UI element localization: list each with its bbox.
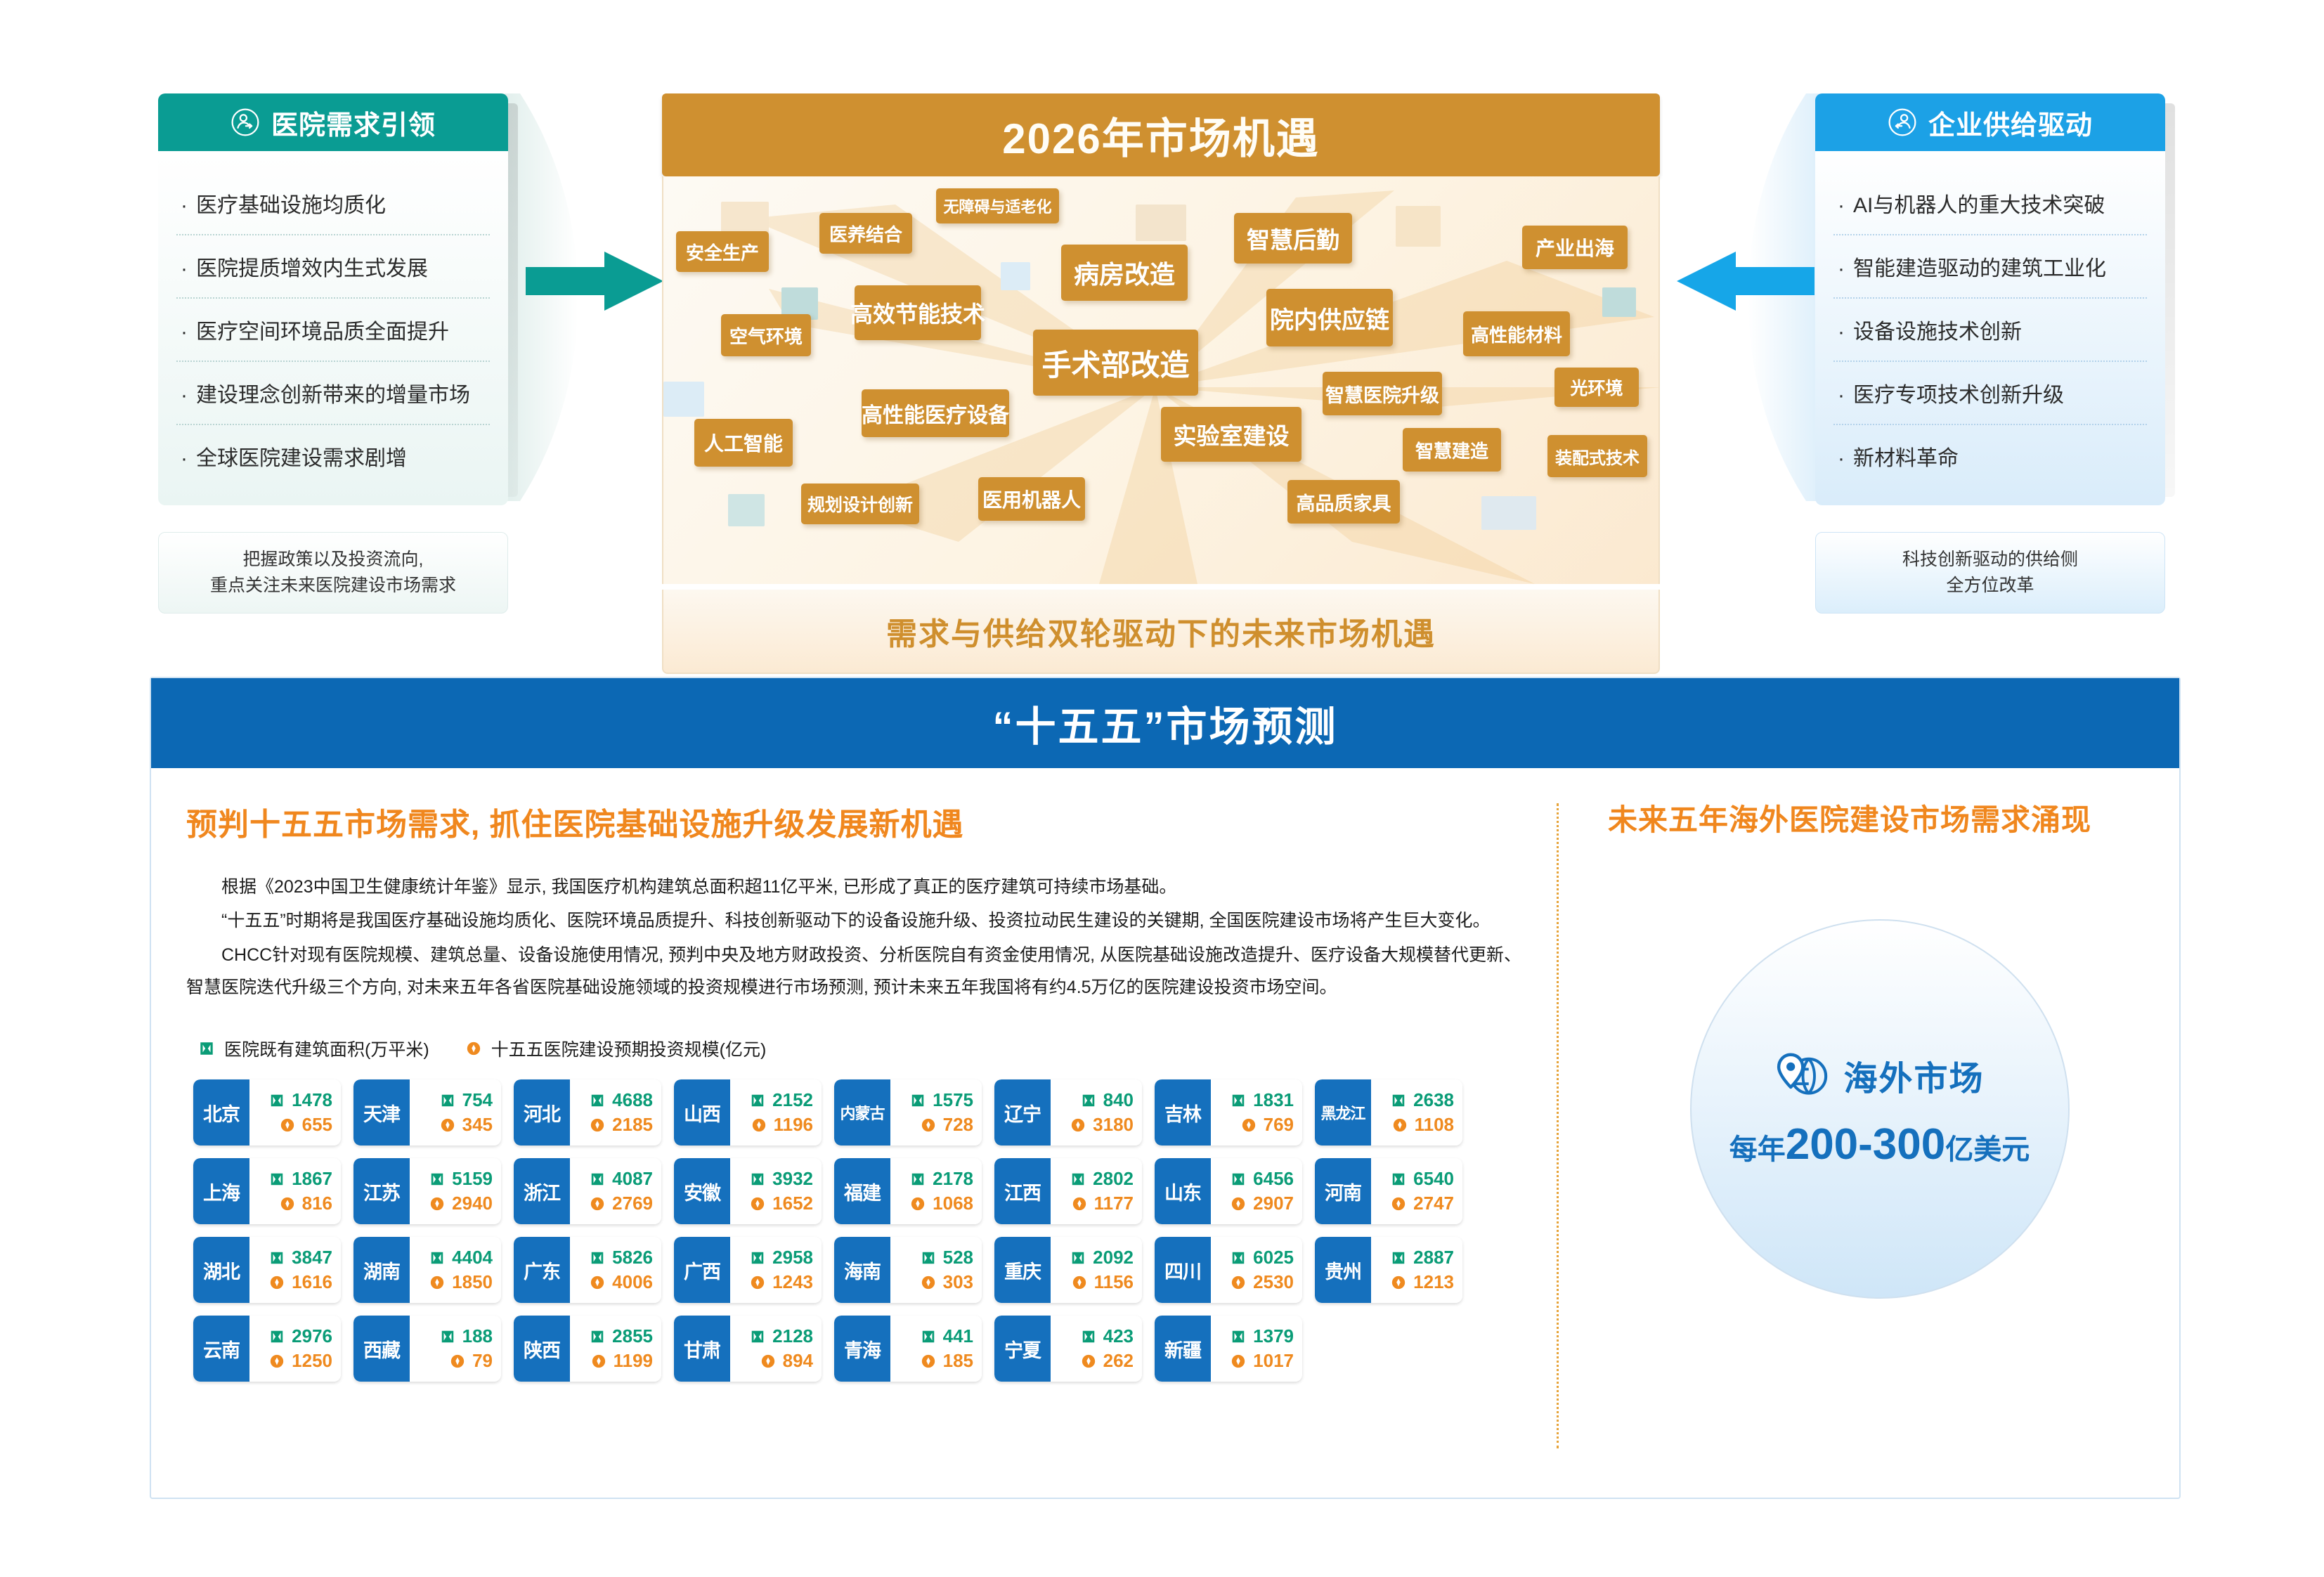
keyword-tag-label: 智慧后勤	[1247, 221, 1339, 255]
province-area-value: 2887	[1413, 1247, 1454, 1268]
province-investment-row: 1850	[414, 1271, 493, 1293]
province-investment-row: 4006	[574, 1271, 653, 1293]
investment-pin-icon	[450, 1354, 465, 1369]
province-area-value: 1575	[933, 1089, 973, 1111]
province-name: 广东	[514, 1237, 570, 1303]
province-card[interactable]: 湖北38471616	[193, 1237, 341, 1303]
province-card[interactable]: 四川60252530	[1155, 1237, 1302, 1303]
province-card[interactable]: 西藏18879	[353, 1316, 501, 1382]
area-marker-icon	[269, 1172, 285, 1187]
province-name: 湖南	[353, 1237, 410, 1303]
province-values: 64562907	[1211, 1158, 1302, 1224]
investment-pin-icon	[590, 1196, 605, 1212]
province-area-value: 6540	[1413, 1168, 1454, 1190]
keyword-tag[interactable]: 医用机器人	[978, 477, 1085, 521]
amount-prefix: 每年	[1729, 1134, 1786, 1165]
keyword-tag[interactable]: 高性能医疗设备	[862, 389, 1009, 437]
enterprise-supply-panel: 企业供给驱动 ·AI与机器人的重大技术突破 ·智能建造驱动的建筑工业化 ·设备设…	[1815, 93, 2165, 505]
list-item-label: 智能建造驱动的建筑工业化	[1853, 257, 2106, 280]
province-card[interactable]: 重庆20921156	[994, 1237, 1142, 1303]
province-investment-value: 345	[462, 1114, 493, 1136]
investment-pin-icon	[591, 1354, 606, 1369]
province-values: 1867816	[249, 1158, 341, 1224]
list-item: ·AI与机器人的重大技术突破	[1833, 172, 2147, 234]
amount-suffix: 亿美元	[1945, 1134, 2030, 1165]
investment-pin-icon	[1391, 1196, 1406, 1212]
province-card[interactable]: 广东58264006	[514, 1237, 661, 1303]
province-area-row: 4087	[574, 1168, 653, 1190]
chart-legend: 医院既有建筑面积(万平米) 十五五医院建设预期投资规模(亿元)	[199, 1036, 1521, 1061]
province-card[interactable]: 天津754345	[353, 1079, 501, 1146]
keyword-tag[interactable]: 院内供应链	[1266, 289, 1393, 346]
province-card-grid: 北京1478655天津754345河北46882185山西21521196内蒙古…	[193, 1079, 1521, 1382]
hospital-demand-footnote: 把握政策以及投资流向, 重点关注未来医院建设市场需求	[158, 532, 508, 614]
bullet-dot-icon: ·	[181, 384, 196, 408]
province-investment-row: 2747	[1375, 1193, 1454, 1214]
province-investment-row: 3180	[1055, 1114, 1134, 1136]
province-values: 21781068	[890, 1158, 982, 1224]
province-card[interactable]: 辽宁8403180	[994, 1079, 1142, 1146]
province-values: 2128894	[730, 1316, 822, 1382]
province-area-value: 754	[462, 1089, 493, 1111]
list-item-label: AI与机器人的重大技术突破	[1853, 194, 2105, 217]
province-name: 云南	[193, 1316, 249, 1382]
list-item: ·医疗专项技术创新升级	[1833, 361, 2147, 424]
province-investment-value: 1177	[1094, 1193, 1134, 1214]
province-investment-value: 303	[943, 1271, 973, 1293]
keyword-tag[interactable]: 高效节能技术	[855, 285, 981, 340]
keyword-tag[interactable]: 智慧医院升级	[1323, 372, 1442, 415]
province-name: 安徽	[674, 1158, 730, 1224]
overseas-section-title: 未来五年海外医院建设市场需求涌现	[1608, 799, 2151, 842]
keyword-tag[interactable]: 规划设计创新	[801, 484, 919, 524]
paragraph: CHCC针对现有医院规模、建筑总量、设备设施使用情况, 预判中央及地方财政投资、…	[186, 939, 1521, 1004]
globe-pin-icon	[1774, 1048, 1829, 1103]
province-investment-row: 185	[895, 1350, 973, 1372]
area-marker-icon	[440, 1093, 455, 1108]
province-name: 陕西	[514, 1316, 570, 1382]
province-investment-value: 1850	[452, 1271, 493, 1293]
province-name: 江苏	[353, 1158, 410, 1224]
province-area-value: 3932	[772, 1168, 813, 1190]
province-investment-value: 1213	[1413, 1271, 1454, 1293]
province-area-value: 2152	[772, 1089, 813, 1111]
province-area-value: 2958	[772, 1247, 813, 1268]
investment-pin-icon	[1072, 1275, 1087, 1290]
list-item: ·医疗基础设施均质化	[176, 172, 490, 234]
province-area-row: 3847	[254, 1247, 332, 1268]
province-investment-row: 1616	[254, 1271, 332, 1293]
overseas-forecast-column: 未来五年海外医院建设市场需求涌现 海外市场	[1559, 768, 2179, 1498]
province-name: 西藏	[353, 1316, 410, 1382]
keyword-tag[interactable]: 高性能材料	[1463, 311, 1570, 356]
province-values: 1478655	[249, 1079, 341, 1146]
province-name: 河南	[1315, 1158, 1371, 1224]
province-name: 新疆	[1155, 1316, 1211, 1382]
area-marker-icon	[429, 1250, 445, 1266]
province-card[interactable]: 上海1867816	[193, 1158, 341, 1224]
province-area-value: 423	[1103, 1325, 1134, 1347]
province-area-row: 423	[1055, 1325, 1134, 1347]
keyword-tag-label: 产业出海	[1536, 233, 1614, 261]
keyword-tag[interactable]: 病房改造	[1061, 245, 1188, 301]
province-area-row: 2128	[734, 1325, 813, 1347]
enterprise-supply-footnote: 科技创新驱动的供给侧 全方位改革	[1815, 532, 2165, 614]
market-forecast-section: “十五五”市场预测 预判十五五市场需求, 抓住医院基础设施升级发展新机遇 根据《…	[150, 677, 2181, 1499]
keyword-cloud: 安全生产医养结合无障碍与适老化空气环境高效节能技术病房改造智慧后勤产业出海院内供…	[662, 176, 1660, 584]
province-values: 20921156	[1051, 1237, 1142, 1303]
investment-pin-icon	[1072, 1196, 1087, 1212]
decorative-block	[728, 494, 765, 526]
province-card[interactable]: 青海441185	[834, 1316, 982, 1382]
province-area-row: 5159	[414, 1168, 493, 1190]
investment-pin-icon	[1070, 1117, 1086, 1133]
province-card[interactable]: 江西28021177	[994, 1158, 1142, 1224]
province-area-value: 528	[943, 1247, 973, 1268]
hospital-demand-panel-header: 医院需求引领	[158, 93, 508, 151]
area-marker-icon	[1231, 1329, 1246, 1344]
bullet-dot-icon: ·	[181, 194, 196, 218]
area-marker-icon	[269, 1250, 285, 1266]
province-investment-value: 1017	[1253, 1350, 1294, 1372]
province-investment-value: 2907	[1253, 1193, 1294, 1214]
footnote-line-1: 把握政策以及投资流向,	[243, 547, 424, 573]
keyword-tag[interactable]: 光环境	[1554, 368, 1639, 407]
province-name: 宁夏	[994, 1316, 1051, 1382]
province-card[interactable]: 江苏51592940	[353, 1158, 501, 1224]
investment-pin-icon	[1081, 1354, 1096, 1369]
keyword-tag-label: 病房改造	[1074, 254, 1175, 291]
footnote-line-2: 全方位改革	[1946, 573, 2034, 599]
province-name: 广西	[674, 1237, 730, 1303]
province-investment-row: 2907	[1215, 1193, 1294, 1214]
investment-pin-icon	[921, 1354, 936, 1369]
area-marker-icon	[269, 1093, 285, 1108]
province-name: 河北	[514, 1079, 570, 1146]
province-area-row: 754	[414, 1089, 493, 1111]
province-investment-row: 1068	[895, 1193, 973, 1214]
province-area-value: 5159	[452, 1168, 493, 1190]
investment-pin-icon	[921, 1275, 936, 1290]
area-marker-icon	[910, 1172, 926, 1187]
investment-pin-icon	[1231, 1354, 1246, 1369]
province-investment-row: 1156	[1055, 1271, 1134, 1293]
province-values: 18879	[410, 1316, 501, 1382]
province-values: 13791017	[1211, 1316, 1302, 1382]
province-investment-value: 769	[1264, 1114, 1294, 1136]
province-card[interactable]: 贵州28871213	[1315, 1237, 1462, 1303]
province-investment-row: 1250	[254, 1350, 332, 1372]
province-values: 423262	[1051, 1316, 1142, 1382]
province-name: 北京	[193, 1079, 249, 1146]
enterprise-supply-panel-header: 企业供给驱动	[1815, 93, 2165, 151]
province-name: 内蒙古	[834, 1079, 890, 1146]
province-investment-row: 1652	[734, 1193, 813, 1214]
province-investment-value: 1199	[614, 1350, 653, 1372]
province-area-value: 2178	[933, 1168, 973, 1190]
province-values: 38471616	[249, 1237, 341, 1303]
province-name: 湖北	[193, 1237, 249, 1303]
province-area-row: 6456	[1215, 1168, 1294, 1190]
area-marker-icon	[1391, 1093, 1406, 1108]
footnote-line-2: 重点关注未来医院建设市场需求	[210, 573, 456, 599]
province-values: 58264006	[570, 1237, 661, 1303]
keyword-tag[interactable]: 人工智能	[694, 419, 793, 467]
investment-pin-icon	[921, 1117, 936, 1133]
keyword-tag[interactable]: 医养结合	[819, 213, 912, 254]
investment-pin-icon	[269, 1354, 285, 1369]
decorative-block	[1001, 262, 1030, 290]
province-card[interactable]: 安徽39321652	[674, 1158, 822, 1224]
paragraph: “十五五”时期将是我国医疗基础设施均质化、医院环境品质提升、科技创新驱动下的设备…	[186, 904, 1521, 937]
province-investment-row: 1199	[574, 1350, 653, 1372]
province-area-value: 2638	[1413, 1089, 1454, 1111]
province-area-row: 840	[1055, 1089, 1134, 1111]
province-area-row: 6540	[1375, 1168, 1454, 1190]
area-marker-icon	[1391, 1172, 1406, 1187]
province-investment-value: 1156	[1094, 1271, 1134, 1293]
province-area-row: 2178	[895, 1168, 973, 1190]
investment-pin-icon	[1231, 1275, 1246, 1290]
investment-pin-icon	[760, 1354, 776, 1369]
province-card[interactable]: 吉林1831769	[1155, 1079, 1302, 1146]
area-marker-icon	[1070, 1250, 1086, 1266]
province-card[interactable]: 山东64562907	[1155, 1158, 1302, 1224]
province-area-row: 441	[895, 1325, 973, 1347]
keyword-tag[interactable]: 无障碍与适老化	[936, 188, 1059, 223]
province-investment-value: 2747	[1413, 1193, 1454, 1214]
province-investment-row: 1017	[1215, 1350, 1294, 1372]
keyword-tag[interactable]: 实验室建设	[1161, 407, 1301, 462]
keyword-tag[interactable]: 装配式技术	[1547, 435, 1647, 477]
province-area-row: 188	[414, 1325, 493, 1347]
province-investment-row: 2769	[574, 1193, 653, 1214]
province-name: 甘肃	[674, 1316, 730, 1382]
province-investment-value: 1108	[1415, 1114, 1454, 1136]
paragraph: 根据《2023中国卫生健康统计年鉴》显示, 我国医疗机构建筑总面积超11亿平米,…	[186, 871, 1521, 903]
investment-pin-icon	[440, 1117, 455, 1133]
area-marker-icon	[921, 1329, 936, 1344]
province-card[interactable]: 福建21781068	[834, 1158, 982, 1224]
province-values: 29761250	[249, 1316, 341, 1382]
province-values: 28551199	[570, 1316, 661, 1382]
keyword-tag-label: 规划设计创新	[807, 491, 913, 517]
province-investment-row: 1108	[1375, 1114, 1454, 1136]
investment-pin-icon	[280, 1117, 295, 1133]
hospital-demand-panel-title: 医院需求引领	[271, 103, 436, 142]
province-area-row: 2802	[1055, 1168, 1134, 1190]
hospital-demand-list: ·医疗基础设施均质化 ·医院提质增效内生式发展 ·医疗空间环境品质全面提升 ·建…	[158, 151, 508, 505]
province-area-row: 2958	[734, 1247, 813, 1268]
market-opportunity-section: 医院需求引领 ·医疗基础设施均质化 ·医院提质增效内生式发展 ·医疗空间环境品质…	[0, 0, 2324, 654]
center-footer-text: 需求与供给双轮驱动下的未来市场机遇	[886, 609, 1436, 654]
province-values: 8403180	[1051, 1079, 1142, 1146]
province-investment-row: 345	[414, 1114, 493, 1136]
province-investment-value: 1068	[933, 1193, 973, 1214]
province-values: 29581243	[730, 1237, 822, 1303]
area-marker-icon	[199, 1041, 214, 1056]
province-area-value: 2128	[772, 1325, 813, 1347]
investment-pin-icon	[1231, 1196, 1246, 1212]
area-marker-icon	[750, 1172, 765, 1187]
province-name: 四川	[1155, 1237, 1211, 1303]
investment-pin-icon	[280, 1196, 295, 1212]
bullet-dot-icon: ·	[181, 257, 196, 281]
keyword-tag[interactable]: 空气环境	[721, 314, 811, 356]
province-area-row: 1575	[895, 1089, 973, 1111]
province-investment-value: 655	[302, 1114, 332, 1136]
province-investment-row: 1213	[1375, 1271, 1454, 1293]
province-area-value: 6456	[1253, 1168, 1294, 1190]
footnote-line-1: 科技创新驱动的供给侧	[1902, 547, 2078, 573]
province-investment-value: 79	[472, 1350, 493, 1372]
province-card[interactable]: 宁夏423262	[994, 1316, 1142, 1382]
province-card[interactable]: 浙江40872769	[514, 1158, 661, 1224]
province-area-value: 4688	[612, 1089, 653, 1111]
province-card[interactable]: 新疆13791017	[1155, 1316, 1302, 1382]
province-values: 44041850	[410, 1237, 501, 1303]
province-card[interactable]: 广西29581243	[674, 1237, 822, 1303]
decorative-block	[1602, 287, 1636, 317]
province-area-row: 2855	[574, 1325, 653, 1347]
keyword-tag[interactable]: 智慧建造	[1403, 428, 1501, 472]
list-item: ·新材料革命	[1833, 424, 2147, 487]
province-name: 黑龙江	[1315, 1079, 1371, 1146]
overseas-market-circle: 海外市场 每年200-300亿美元	[1690, 919, 2070, 1299]
area-marker-icon	[1081, 1329, 1096, 1344]
overseas-market-label: 海外市场	[1843, 1051, 1984, 1100]
keyword-tag-label: 高效节能技术	[850, 297, 985, 329]
keyword-tag-label: 高品质家具	[1297, 488, 1391, 516]
province-area-value: 1478	[292, 1089, 332, 1111]
province-name: 上海	[193, 1158, 249, 1224]
province-card[interactable]: 甘肃2128894	[674, 1316, 822, 1382]
province-investment-value: 2185	[612, 1114, 653, 1136]
province-name: 青海	[834, 1316, 890, 1382]
province-area-row: 3932	[734, 1168, 813, 1190]
area-marker-icon	[440, 1329, 455, 1344]
province-card[interactable]: 北京1478655	[193, 1079, 341, 1146]
user-arrow-left-icon	[1888, 108, 1917, 137]
province-investment-row: 1196	[734, 1114, 813, 1136]
province-area-value: 6025	[1253, 1247, 1294, 1268]
keyword-tag-label: 装配式技术	[1555, 444, 1640, 469]
supply-to-center-arrow-icon	[1674, 247, 1815, 315]
keyword-tag[interactable]: 产业出海	[1522, 226, 1628, 269]
province-card[interactable]: 云南29761250	[193, 1316, 341, 1382]
bullet-dot-icon: ·	[181, 447, 196, 471]
area-marker-icon	[590, 1093, 605, 1108]
province-card[interactable]: 内蒙古1575728	[834, 1079, 982, 1146]
panel-shadow	[2165, 103, 2175, 497]
center-title-bar: 2026年市场机遇	[662, 93, 1660, 176]
list-item-label: 医疗专项技术创新升级	[1853, 384, 2064, 407]
investment-pin-icon	[590, 1117, 605, 1133]
list-item-label: 医院提质增效内生式发展	[196, 257, 428, 280]
keyword-tag-label: 光环境	[1570, 375, 1623, 400]
bullet-dot-icon: ·	[1838, 194, 1853, 218]
province-investment-value: 2769	[612, 1193, 653, 1214]
province-card[interactable]: 河北46882185	[514, 1079, 661, 1146]
province-investment-value: 262	[1103, 1350, 1134, 1372]
market-opportunity-cloud-card: 2026年市场机遇 安全生产医养结合	[662, 93, 1660, 674]
province-name: 海南	[834, 1237, 890, 1303]
keyword-tag[interactable]: 安全生产	[676, 231, 769, 272]
legend-item-investment: 十五五医院建设预期投资规模(亿元)	[466, 1036, 767, 1061]
area-marker-icon	[910, 1093, 926, 1108]
province-area-row: 2152	[734, 1089, 813, 1111]
province-card[interactable]: 山西21521196	[674, 1079, 822, 1146]
province-area-value: 1379	[1253, 1325, 1294, 1347]
area-marker-icon	[590, 1172, 605, 1187]
province-investment-row: 2185	[574, 1114, 653, 1136]
province-card[interactable]: 湖南44041850	[353, 1237, 501, 1303]
area-marker-icon	[1231, 1250, 1246, 1266]
province-investment-row: 2530	[1215, 1271, 1294, 1293]
province-investment-row: 655	[254, 1114, 332, 1136]
keyword-tag-label: 空气环境	[729, 323, 803, 349]
keyword-tag[interactable]: 手术部改造	[1033, 330, 1198, 396]
investment-pin-icon	[910, 1196, 926, 1212]
area-marker-icon	[1391, 1250, 1406, 1266]
list-item: ·建设理念创新带来的增量市场	[176, 361, 490, 424]
decorative-block	[1396, 206, 1441, 247]
legend-label: 十五五医院建设预期投资规模(亿元)	[491, 1036, 767, 1061]
investment-pin-icon	[750, 1196, 765, 1212]
legend-item-area: 医院既有建筑面积(万平米)	[199, 1036, 429, 1061]
province-values: 40872769	[570, 1158, 661, 1224]
province-investment-row: 1243	[734, 1271, 813, 1293]
province-name: 天津	[353, 1079, 410, 1146]
list-item-label: 新材料革命	[1853, 447, 1959, 470]
keyword-tag-label: 手术部改造	[1042, 342, 1190, 384]
province-area-value: 3847	[292, 1247, 332, 1268]
province-area-value: 188	[462, 1325, 493, 1347]
province-card[interactable]: 陕西28551199	[514, 1316, 661, 1382]
area-marker-icon	[269, 1329, 285, 1344]
keyword-tag-label: 高性能材料	[1471, 321, 1562, 347]
amount-value: 200-300	[1786, 1120, 1946, 1169]
province-area-value: 2802	[1093, 1168, 1134, 1190]
province-area-value: 840	[1103, 1089, 1134, 1111]
keyword-tag[interactable]: 智慧后勤	[1234, 213, 1352, 264]
forecast-banner: “十五五”市场预测	[151, 678, 2179, 768]
bullet-dot-icon: ·	[1838, 257, 1853, 281]
province-investment-row: 303	[895, 1271, 973, 1293]
bullet-dot-icon: ·	[1838, 320, 1853, 344]
area-marker-icon	[750, 1093, 765, 1108]
province-card[interactable]: 海南528303	[834, 1237, 982, 1303]
province-area-row: 528	[895, 1247, 973, 1268]
keyword-tag[interactable]: 高品质家具	[1287, 480, 1400, 524]
domestic-forecast-column: 预判十五五市场需求, 抓住医院基础设施升级发展新机遇 根据《2023中国卫生健康…	[151, 768, 1557, 1498]
province-area-row: 2887	[1375, 1247, 1454, 1268]
area-marker-icon	[1070, 1172, 1086, 1187]
province-investment-row: 79	[414, 1350, 493, 1372]
province-investment-value: 1250	[292, 1350, 332, 1372]
area-marker-icon	[921, 1250, 936, 1266]
province-card[interactable]: 河南65402747	[1315, 1158, 1462, 1224]
province-values: 60252530	[1211, 1237, 1302, 1303]
province-area-row: 4688	[574, 1089, 653, 1111]
panel-shadow	[508, 103, 518, 497]
province-name: 贵州	[1315, 1237, 1371, 1303]
province-card[interactable]: 黑龙江26381108	[1315, 1079, 1462, 1146]
province-values: 1575728	[890, 1079, 982, 1146]
province-area-row: 2976	[254, 1325, 332, 1347]
province-area-value: 441	[943, 1325, 973, 1347]
province-values: 754345	[410, 1079, 501, 1146]
